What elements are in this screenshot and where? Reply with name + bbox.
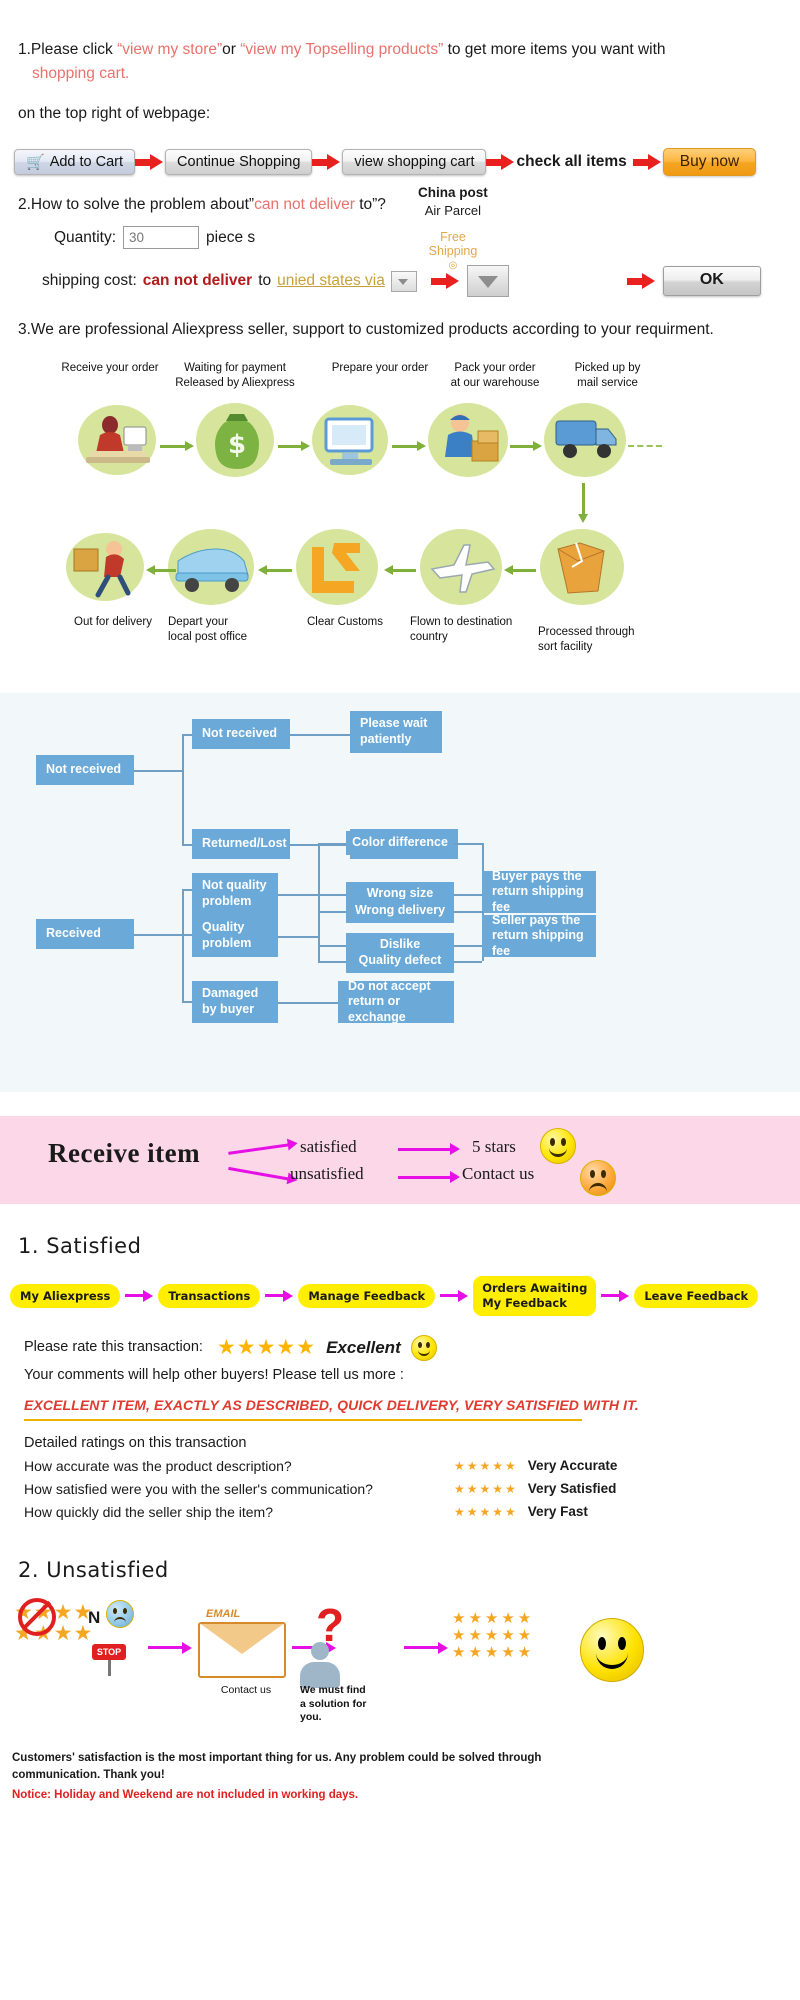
- unsatisfied-flow: ★★★★★★★★ N STOP EMAIL Contact us ? We mu…: [0, 1596, 800, 1746]
- arrow-right-icon: [125, 1290, 153, 1302]
- flowchart-node-returned-lost: Returned/Lost: [192, 829, 290, 859]
- arrow-right-icon: [398, 1143, 460, 1155]
- five-star-rating-block[interactable]: ★★★★★ ★★★★★ ★★★★★: [452, 1610, 534, 1661]
- support-person-icon: [300, 1642, 340, 1688]
- money-bag-icon: $: [202, 405, 272, 480]
- flowchart-result-no-return: Do not accept return or exchange: [338, 981, 454, 1023]
- rating-word: Excellent: [326, 1335, 401, 1361]
- banner-satisfied-label: satisfied: [300, 1137, 357, 1157]
- view-my-store-link[interactable]: “view my store”: [117, 41, 222, 58]
- rating-stars[interactable]: ★★★★★: [217, 1332, 316, 1364]
- courier-running-icon: [70, 537, 140, 606]
- banner-5-stars-label: 5 stars: [472, 1137, 516, 1157]
- destination-link[interactable]: unied states via: [277, 272, 385, 290]
- add-to-cart-button[interactable]: 🛒 Add to Cart: [14, 149, 135, 175]
- destination-dropdown-icon[interactable]: [391, 271, 417, 292]
- title-highlight: can not deliver: [254, 196, 355, 213]
- view-topselling-link[interactable]: “view my Topselling products”: [240, 41, 443, 58]
- footer-notice: Notice: Holiday and Weekend are not incl…: [12, 1787, 800, 1804]
- shopping-cart-icon: 🛒: [26, 155, 45, 170]
- rating-question: How quickly did the seller ship the item…: [24, 1501, 454, 1524]
- prohibition-icon: [18, 1598, 56, 1636]
- airplane-icon: [428, 539, 498, 602]
- flow-arrow-icon: [278, 441, 310, 451]
- section-1-store-links: 1.Please click “view my store”or “view m…: [0, 0, 800, 126]
- envelope-icon: [198, 1622, 286, 1678]
- cannot-deliver-text: can not deliver: [143, 272, 252, 290]
- arrow-right-icon: [135, 154, 165, 170]
- arrow-right-icon: [148, 1642, 192, 1654]
- stop-label: STOP: [92, 1644, 126, 1660]
- feedback-form: Please rate this transaction: ★★★★★ Exce…: [24, 1332, 800, 1524]
- arrow-right-icon: [440, 1290, 468, 1302]
- person-at-computer-icon: [84, 411, 152, 478]
- smiley-happy-icon: [540, 1128, 576, 1164]
- flow-arrow-icon: [510, 441, 542, 451]
- buy-now-button[interactable]: Buy now: [663, 148, 756, 176]
- flowchart-reason-color-difference: Color difference: [346, 831, 454, 855]
- to-text: to: [258, 272, 271, 290]
- quantity-input[interactable]: 30: [123, 226, 199, 249]
- star-row: ★★★★★: [452, 1627, 534, 1644]
- table-row: How quickly did the seller ship the item…: [24, 1501, 617, 1524]
- satisfied-step-flow: My Aliexpress Transactions Manage Feedba…: [10, 1276, 800, 1316]
- rating-value: Very Accurate: [528, 1455, 618, 1478]
- flow-arrow-left-icon: [504, 565, 536, 575]
- smiley-worried-icon: [106, 1600, 134, 1628]
- worker-with-boxes-icon: [434, 407, 506, 478]
- section-1-line-3: on the top right of webpage:: [18, 102, 800, 126]
- section-2-title: 2.How to solve the problem about”can not…: [18, 196, 800, 214]
- line1-part-a: 1.Please click: [18, 41, 117, 58]
- section-2-delivery-problem: 2.How to solve the problem about”can not…: [0, 176, 800, 297]
- contact-us-caption: Contact us: [206, 1684, 286, 1698]
- flowchart-root-not-received: Not received: [36, 755, 134, 785]
- star-row: ★★★★★: [452, 1610, 534, 1627]
- flow-label-clear-customs: Clear Customs: [290, 615, 400, 630]
- ok-button[interactable]: OK: [663, 266, 761, 296]
- shipping-cost-row: shipping cost:can not deliver to unied s…: [42, 265, 800, 297]
- flowchart-result-seller-pays: Seller pays the return shipping fee: [482, 915, 596, 957]
- arrow-right-icon: [404, 1642, 448, 1654]
- flow-label-receive-order: Receive your order: [55, 361, 165, 376]
- flow-label-depart-post-office: Depart yourlocal post office: [168, 615, 278, 645]
- buy-now-label: Buy now: [680, 153, 739, 170]
- detail-heading: Detailed ratings on this transaction: [24, 1433, 800, 1455]
- flowchart-node-not-received: Not received: [192, 719, 290, 749]
- smiley-large-icon: [580, 1618, 644, 1682]
- step-orders-awaiting-feedback[interactable]: Orders Awaiting My Feedback: [473, 1276, 596, 1316]
- table-row: How satisfied were you with the seller's…: [24, 1478, 617, 1501]
- receive-item-banner: Receive item satisfied unsatisfied 5 sta…: [0, 1116, 800, 1204]
- carrier-service: Air Parcel: [418, 202, 488, 220]
- flow-label-sort-facility: Processed throughsort facility: [538, 625, 658, 655]
- comments-prompt: Your comments will help other buyers! Pl…: [24, 1365, 800, 1387]
- detailed-ratings-table: How accurate was the product description…: [24, 1455, 617, 1524]
- banner-title: Receive item: [48, 1138, 200, 1169]
- rating-value: Very Satisfied: [528, 1478, 618, 1501]
- flowchart-node-not-quality-problem: Not quality problem: [192, 873, 278, 915]
- section-3-customization: 3.We are professional Aliexpress seller,…: [0, 297, 800, 339]
- flow-arrow-left-icon: [146, 565, 176, 575]
- radio-icon[interactable]: ◎: [425, 260, 481, 272]
- desktop-computer-icon: [320, 411, 382, 476]
- customs-stamp-icon: [304, 537, 370, 604]
- page-root: 1.Please click “view my store”or “view m…: [0, 0, 800, 1804]
- arrow-right-icon: [601, 1290, 629, 1302]
- flowchart-result-buyer-pays: Buyer pays the return shipping fee: [482, 871, 596, 913]
- shipping-process-diagram: Receive your order Waiting for paymentRe…: [0, 353, 800, 683]
- arrow-right-icon: [228, 1137, 299, 1159]
- checkout-button-flow: 🛒 Add to Cart Continue Shopping view sho…: [14, 148, 800, 176]
- arrow-right-icon: [398, 1171, 460, 1183]
- arrow-right-icon: [486, 154, 516, 170]
- unsatisfied-heading: 2. Unsatisfied: [18, 1558, 800, 1582]
- arrow-right-icon: [312, 154, 342, 170]
- rating-stars[interactable]: ★★★★★: [454, 1501, 528, 1524]
- flowchart-root-received: Received: [36, 919, 134, 949]
- star-row: ★★★★★: [452, 1644, 534, 1661]
- flow-label-waiting-payment: Waiting for paymentReleased by Aliexpres…: [160, 361, 310, 391]
- comment-text: EXCELLENT ITEM, EXACTLY AS DESCRIBED, QU…: [24, 1395, 800, 1416]
- rating-stars[interactable]: ★★★★★: [454, 1455, 528, 1478]
- footer-note: Customers' satisfaction is the most impo…: [12, 1750, 800, 1804]
- rate-label: Please rate this transaction:: [24, 1337, 203, 1359]
- step-leave-feedback[interactable]: Leave Feedback: [634, 1284, 758, 1309]
- flowchart-node-quality-problem: Quality problem: [192, 915, 278, 957]
- detailed-ratings: Detailed ratings on this transaction How…: [24, 1433, 800, 1524]
- line1-part-b: or: [222, 41, 240, 58]
- arrow-right-icon: [227, 1162, 298, 1186]
- flow-arrow-down-icon: [578, 483, 588, 523]
- rating-value: Very Fast: [528, 1501, 618, 1524]
- flowchart-reason-wrong-delivery: Wrong delivery: [346, 899, 454, 923]
- delivery-van-icon: [172, 543, 252, 600]
- footer-line-2: communication. Thank you!: [12, 1767, 800, 1784]
- step-manage-feedback[interactable]: Manage Feedback: [298, 1284, 435, 1309]
- comment-underline: [24, 1419, 582, 1421]
- return-policy-flowchart: Not received Not received Please wait pa…: [0, 693, 800, 1092]
- view-shopping-cart-button[interactable]: view shopping cart: [342, 149, 486, 175]
- flowchart-result-please-wait: Please wait patiently: [350, 711, 442, 753]
- parcel-sorting-icon: [548, 535, 618, 606]
- shipping-cost-label: shipping cost:: [42, 272, 137, 290]
- title-part-b: to”?: [355, 196, 386, 213]
- shopping-cart-text: shopping cart.: [18, 62, 800, 86]
- footer-line-1: Customers' satisfaction is the most impo…: [12, 1750, 800, 1767]
- banner-contact-us-label: Contact us: [462, 1164, 534, 1184]
- delivery-truck-icon: [552, 411, 622, 472]
- email-label: EMAIL: [206, 1608, 240, 1620]
- solution-caption: We must finda solution foryou.: [300, 1684, 400, 1725]
- flow-label-prepare-order: Prepare your order: [320, 361, 440, 376]
- banner-unsatisfied-label: unsatisfied: [290, 1164, 364, 1184]
- flowchart-node-damaged-by-buyer: Damaged by buyer: [192, 981, 278, 1023]
- flow-arrow-left-icon: [258, 565, 292, 575]
- continue-shopping-button[interactable]: Continue Shopping: [165, 149, 312, 175]
- carrier-name: China post: [418, 185, 488, 200]
- flow-label-flown-destination: Flown to destinationcountry: [410, 615, 530, 645]
- piece-label: piece s: [206, 229, 255, 247]
- quantity-label: Quantity:: [54, 229, 116, 247]
- arrow-right-icon: [265, 1290, 293, 1302]
- arrow-right-icon: [627, 273, 657, 289]
- smiley-happy-icon: [411, 1335, 437, 1361]
- title-part-a: 2.How to solve the problem about”: [18, 196, 254, 213]
- rating-stars[interactable]: ★★★★★: [454, 1478, 528, 1501]
- continue-shopping-label: Continue Shopping: [177, 154, 300, 170]
- flow-arrow-left-icon: [384, 565, 416, 575]
- view-cart-label: view shopping cart: [354, 154, 474, 170]
- free-shipping-label: FreeShipping◎: [425, 230, 481, 271]
- flow-label-picked-up: Picked up bymail service: [555, 361, 660, 391]
- satisfied-heading: 1. Satisfied: [18, 1234, 800, 1258]
- arrow-right-icon: [431, 273, 461, 289]
- rating-question: How satisfied were you with the seller's…: [24, 1478, 454, 1501]
- carrier-info: China post Air Parcel: [418, 184, 488, 220]
- line1-part-c: to get more items you want with: [443, 41, 665, 58]
- add-to-cart-label: Add to Cart: [50, 154, 123, 170]
- stop-sign-icon: STOP: [92, 1644, 126, 1676]
- table-row: How accurate was the product description…: [24, 1455, 617, 1478]
- check-all-items-label: check all items: [516, 153, 626, 171]
- flow-label-out-for-delivery: Out for delivery: [58, 615, 168, 630]
- rate-transaction-row: Please rate this transaction: ★★★★★ Exce…: [24, 1332, 800, 1364]
- smiley-sad-icon: [580, 1160, 616, 1196]
- step-transactions[interactable]: Transactions: [158, 1284, 260, 1309]
- arrow-right-icon: [633, 154, 663, 170]
- svg-text:$: $: [228, 430, 246, 460]
- flowchart-reason-quality-defect: Quality defect: [346, 949, 454, 973]
- rating-question: How accurate was the product description…: [24, 1455, 454, 1478]
- flow-arrow-icon: [160, 441, 194, 451]
- no-label: N: [88, 1608, 100, 1628]
- flow-label-pack-order: Pack your orderat our warehouse: [440, 361, 550, 391]
- flow-arrow-icon: [392, 441, 426, 451]
- section-1-line-1: 1.Please click “view my store”or “view m…: [18, 38, 800, 62]
- step-my-aliexpress[interactable]: My Aliexpress: [10, 1284, 120, 1309]
